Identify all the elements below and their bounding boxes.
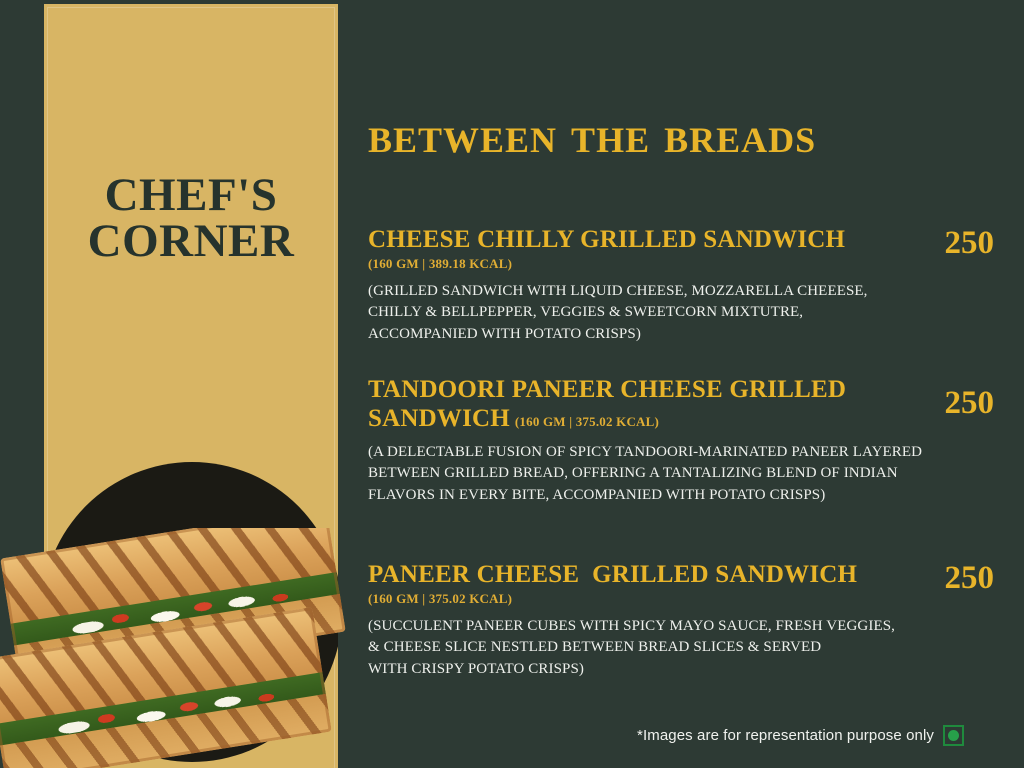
menu-item-name: CHEESE CHILLY GRILLED SANDWICH — [368, 226, 845, 253]
footer-disclaimer: *Images are for representation purpose o… — [637, 725, 964, 746]
disclaimer-text: *Images are for representation purpose o… — [637, 727, 934, 744]
chefs-corner-title: CHEF'S CORNER — [44, 172, 338, 264]
grilled-sandwich-image — [0, 528, 352, 768]
menu-item-serving: (160 GM | 375.02 KCAL) — [368, 591, 898, 607]
menu-item[interactable]: TANDOORI PANEER CHEESE GRILLED SANDWICH(… — [368, 375, 1008, 506]
menu-item[interactable]: CHEESE CHILLY GRILLED SANDWICH (160 GM |… — [368, 225, 1008, 345]
chefs-corner-line1: CHEF'S — [105, 169, 278, 221]
menu-item-header: TANDOORI PANEER CHEESE GRILLED SANDWICH(… — [368, 375, 1008, 433]
menu-item-description: (GRILLED SANDWICH WITH LIQUID CHEESE, MO… — [368, 281, 1008, 345]
menu-item-price: 250 — [898, 387, 994, 420]
menu-item-price: 250 — [898, 227, 994, 260]
section-title: Between The Breads — [368, 110, 992, 162]
chefs-corner-line2: CORNER — [44, 218, 338, 264]
menu-content: Between The Breads CHEESE CHILLY GRILLED… — [368, 0, 1024, 768]
menu-item-header: PANEER CHEESE GRILLED SANDWICH (160 GM |… — [368, 560, 1008, 607]
vegetarian-mark-icon — [943, 725, 964, 746]
menu-item-name: PANEER CHEESE GRILLED SANDWICH — [368, 561, 857, 588]
menu-item-price: 250 — [898, 562, 994, 595]
menu-board: CHEF'S CORNER Between The Breads — [0, 0, 1024, 768]
menu-item-serving: (160 GM | 375.02 KCAL) — [515, 414, 659, 429]
menu-item[interactable]: PANEER CHEESE GRILLED SANDWICH (160 GM |… — [368, 560, 1008, 680]
menu-item-serving: (160 GM | 389.18 KCAL) — [368, 256, 898, 272]
menu-item-description: (SUCCULENT PANEER CUBES WITH SPICY MAYO … — [368, 616, 1008, 680]
menu-item-header: CHEESE CHILLY GRILLED SANDWICH (160 GM |… — [368, 225, 1008, 272]
menu-item-description: (A DELECTABLE FUSION OF SPICY TANDOORI-M… — [368, 442, 1008, 506]
vegetarian-dot — [948, 730, 959, 741]
